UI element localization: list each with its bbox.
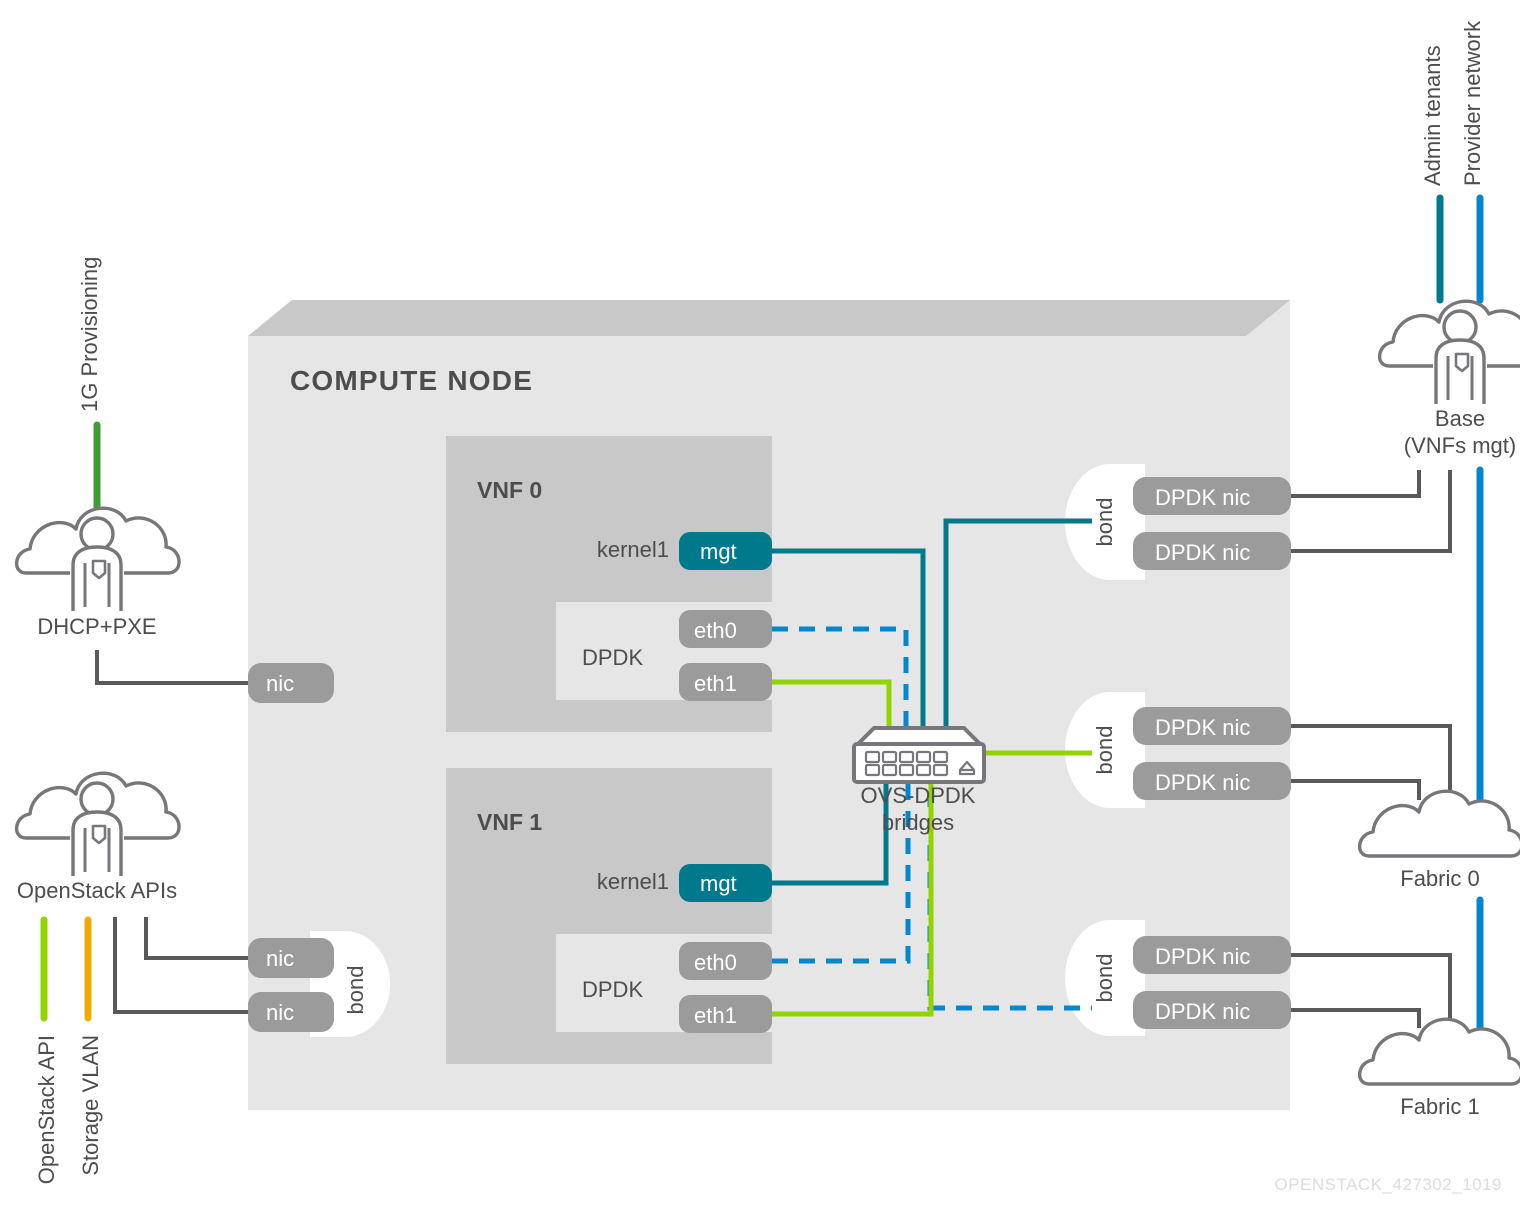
left-nic-provisioning[interactable]: nic [248, 663, 334, 703]
vnf-0-mgt-label: mgt [700, 539, 737, 564]
provisioning-link-label: 1G Provisioning [77, 257, 102, 412]
ovs-dpdk-switch-icon[interactable] [854, 728, 984, 782]
base-label-line1: Base [1435, 406, 1485, 431]
left-nic-2-label: nic [266, 1000, 294, 1025]
legend-openstack-api-label: OpenStack API [34, 1035, 59, 1184]
vnf-0-eth1-label: eth1 [694, 671, 737, 696]
left-nic-0-label: nic [266, 671, 294, 696]
base-vnfs-mgt-cloud-icon [1380, 301, 1520, 404]
vnf-0-dpdk-label: DPDK [582, 645, 643, 670]
vnf-1-dpdk-label: DPDK [582, 977, 643, 1002]
bond-1-label: bond [1092, 726, 1117, 775]
left-nic-storage[interactable]: nic [248, 992, 334, 1032]
left-nic-api[interactable]: nic [248, 938, 334, 978]
vnf-1-title: VNF 1 [477, 809, 542, 835]
base-label-line2: (VNFs mgt) [1404, 433, 1516, 458]
dhcp-pxe-cloud-icon [17, 508, 179, 611]
left-bond-label: bond [343, 966, 368, 1015]
bond-0-nic-0-label: DPDK nic [1155, 485, 1250, 510]
vnf-0-eth0-label: eth0 [694, 618, 737, 643]
fabric-1-label: Fabric 1 [1400, 1094, 1479, 1119]
bond-0-label: bond [1092, 498, 1117, 547]
bond-1-nic-0-label: DPDK nic [1155, 715, 1250, 740]
bond-1-nic-1-label: DPDK nic [1155, 770, 1250, 795]
vnf-1-mgt-label: mgt [700, 871, 737, 896]
left-nic-1-label: nic [266, 946, 294, 971]
vnf-0-kernel-label: kernel1 [597, 537, 669, 562]
bond-2-nic-0-label: DPDK nic [1155, 944, 1250, 969]
bond-2-nic-1-label: DPDK nic [1155, 999, 1250, 1024]
diagram-canvas: COMPUTE NODE VNF 0 kernel1 DPDK mgt eth0… [0, 0, 1520, 1210]
bond-0-wires [1291, 470, 1450, 551]
vnf-1-group: VNF 1 kernel1 DPDK mgt eth0 eth1 [446, 768, 772, 1064]
page-title: COMPUTE NODE [290, 365, 533, 396]
bond-0-nic-1-label: DPDK nic [1155, 540, 1250, 565]
dhcp-pxe-label: DHCP+PXE [37, 614, 156, 639]
openstack-apis-wires [115, 917, 248, 1012]
switch-label-line2: bridges [882, 810, 954, 835]
fabric-1-cloud-icon [1360, 1019, 1520, 1084]
vnf-0-title: VNF 0 [477, 477, 542, 503]
legend-storage-vlan-label: Storage VLAN [78, 1035, 103, 1176]
vnf-1-eth0-label: eth0 [694, 950, 737, 975]
openstack-apis-label: OpenStack APIs [17, 878, 177, 903]
vnf-1-kernel-label: kernel1 [597, 869, 669, 894]
watermark: OPENSTACK_427302_1019 [1274, 1175, 1502, 1194]
provider-network-label: Provider network [1460, 20, 1485, 186]
bond-2-label: bond [1092, 954, 1117, 1003]
fabric-0-label: Fabric 0 [1400, 866, 1479, 891]
bond-2-wires [1291, 955, 1450, 1028]
dhcp-pxe-wire [97, 650, 248, 683]
fabric-0-cloud-icon [1360, 791, 1520, 856]
vnf-0-group: VNF 0 kernel1 DPDK mgt eth0 eth1 [446, 436, 772, 732]
vnf-1-eth1-label: eth1 [694, 1003, 737, 1028]
admin-tenants-label: Admin tenants [1420, 45, 1445, 186]
bond-1-wires [1291, 726, 1450, 800]
openstack-apis-cloud-icon [17, 773, 179, 876]
switch-label-line1: OVS-DPDK [861, 783, 976, 808]
